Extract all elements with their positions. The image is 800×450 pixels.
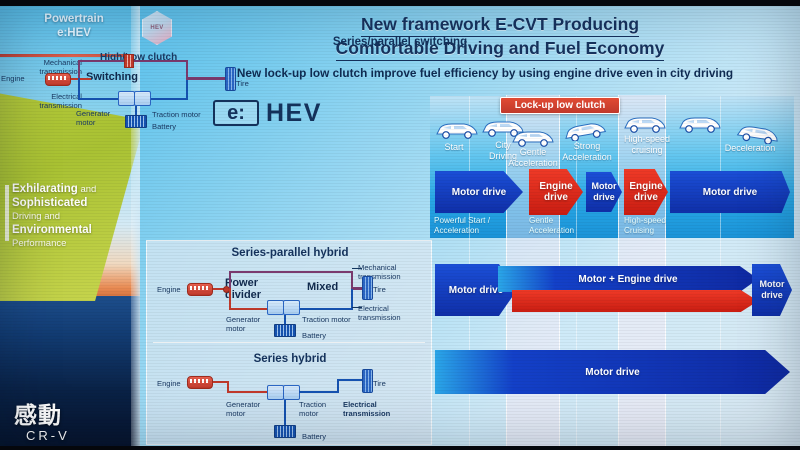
sidebar-logo: 感動 CR-V <box>14 403 134 443</box>
car-icon-strong <box>562 121 608 141</box>
diagram2-label-electrical: Electrical transmission <box>358 304 401 322</box>
sidebar-claim-l3: Driving and <box>12 210 132 224</box>
diagram1-label-engine: Engine <box>1 74 25 83</box>
sidebar-claim-bar <box>5 185 9 241</box>
diagram1-label-battery: Battery <box>152 122 176 131</box>
note-highspeed-cruising: High-speed Cruising <box>624 216 666 235</box>
diagram2-label-generator: Generator motor <box>226 315 260 333</box>
diagram2-label-battery: Battery <box>302 331 326 340</box>
diagram3-label-generator: Generator motor <box>226 400 260 418</box>
logo-kanji: 感動 <box>14 403 134 427</box>
diagram2-tire-icon <box>362 276 373 300</box>
sidebar-headline-line1: Powertrain <box>14 12 134 26</box>
diagram3-generator-icon <box>267 385 284 400</box>
chart-row-series-parallel: Motor drive Motor + Engine drive Motor d… <box>430 254 794 332</box>
car-icon-gentle <box>510 128 556 148</box>
diagram2-generator-icon <box>267 300 284 315</box>
diagram1-wire-toire <box>186 77 228 80</box>
note-powerful-start: Powerful Start / Acceleration <box>434 216 490 235</box>
diagram2-wire-low <box>229 308 267 310</box>
diagram2-wire-down <box>229 288 231 310</box>
diagram2-label-mixed: Mixed <box>307 283 338 292</box>
car-label-highspeed: High-speed cruising <box>616 134 678 155</box>
ehev-wordmark: e: HEV <box>213 98 363 128</box>
diagram1-wire-low <box>78 98 118 100</box>
diagram2-battery-icon <box>274 324 296 337</box>
diagram1-battery-icon <box>125 115 147 128</box>
car-label-strong: Strong Acceleration <box>556 141 618 162</box>
diagram3-label-traction: Traction motor <box>299 400 326 418</box>
segment-row2-motor-drive-end: Motor drive <box>752 264 792 316</box>
lockup-low-clutch-callout: Lock-up low clutch <box>500 97 620 114</box>
diagram1-tire-icon <box>225 67 236 91</box>
diagram1-wire-rightdown <box>186 78 188 100</box>
ehev-e-box: e: <box>213 100 259 126</box>
diagram1-label-center: Switching <box>86 73 138 82</box>
ehev-e-label: e: <box>227 103 245 123</box>
ehev-hev-label: HEV <box>266 101 322 126</box>
logo-model: CR-V <box>26 428 134 443</box>
diagram3-label-tire: Tire <box>373 379 386 388</box>
diagram1-traction-icon <box>134 91 151 106</box>
page-subtitle: New lock-up low clutch improve fuel effi… <box>180 66 790 80</box>
diagram3-title: Series hybrid <box>147 353 433 365</box>
diagram3-label-engine: Engine <box>157 379 181 388</box>
diagram3-wire-out <box>299 391 339 393</box>
diagram1-label-electrical: Electrical transmission <box>22 92 82 110</box>
car-icon-extra <box>677 114 723 134</box>
sidebar-claim-l2: Sophisticated <box>12 197 132 211</box>
diagram1-wire-eng <box>71 78 91 80</box>
segment-motor-drive-3: Motor drive <box>670 171 790 213</box>
diagram1-engine-icon <box>45 73 71 86</box>
car-icon-deceleration <box>735 124 781 144</box>
diagram-panel-group: Series-parallel hybrid Engine Power divi… <box>146 240 432 445</box>
diagram1-wire-up <box>78 60 80 80</box>
diagram2-wire-top <box>229 271 353 273</box>
diagram1-label-generator: Generator motor <box>76 109 110 127</box>
car-label-gentle: Gentle Acceleration <box>502 147 564 168</box>
sidebar-claim-block: Exhilarating and Sophisticated Driving a… <box>12 183 132 251</box>
segment-row3-motor-drive: Motor drive <box>435 350 790 394</box>
slide-canvas: Powertrain e:HEV Exhilarating and Sophis… <box>0 0 800 450</box>
car-label-deceleration: Deceleration <box>710 143 790 154</box>
diagram1-title: Series/parallel switching <box>0 36 800 48</box>
segment-row2-motor-engine-red <box>512 290 758 312</box>
diagram1-label-traction: Traction motor <box>152 110 201 119</box>
top-letterbox-bar <box>0 0 800 6</box>
diagram2-title: Series-parallel hybrid <box>147 247 433 259</box>
diagram3-label-electrical: Electrical transmission <box>343 400 390 418</box>
car-label-start: Start <box>430 142 478 153</box>
diagram2-wire-up <box>229 271 231 289</box>
diagram-series-parallel-hybrid: Series-parallel hybrid Engine Power divi… <box>147 241 433 342</box>
diagram1-wire-low2 <box>150 98 188 100</box>
diagram1-clutch-icon <box>124 54 134 68</box>
bottom-letterbox-bar <box>0 446 800 450</box>
diagram2-label-traction: Traction motor <box>302 315 351 324</box>
diagram1-wire-down <box>78 78 80 100</box>
diagram2-engine-icon <box>187 283 213 296</box>
diagram2-wire-low2 <box>299 308 353 310</box>
diagram3-label-battery: Battery <box>302 432 326 441</box>
diagram2-wire-rightdown <box>351 289 353 309</box>
segment-row2-motor-engine-blue: Motor + Engine drive <box>498 266 758 292</box>
diagram3-traction-icon <box>283 385 300 400</box>
diagram3-wire-bat <box>284 400 286 426</box>
diagram2-wire-topright <box>351 271 353 288</box>
diagram3-wire-up <box>337 379 339 393</box>
car-icon-highspeed <box>622 114 668 134</box>
diagram2-label-tire: Tire <box>373 285 386 294</box>
diagram2-leader-1 <box>352 268 362 269</box>
drive-mode-chart: Start City Driving Gentle Acceleration S… <box>430 96 794 448</box>
chart-row-series-hybrid: Motor drive <box>430 344 794 408</box>
note-gentle-acceleration: Gentle Acceleration <box>529 216 574 235</box>
sidebar-claim-l1: Exhilarating and <box>12 183 132 197</box>
diagram3-wire-tire <box>337 379 363 381</box>
diagram2-traction-icon <box>283 300 300 315</box>
sidebar-claim-l4: Environmental <box>12 224 132 238</box>
page-title-line1: New framework E-CVT Producing <box>250 13 750 37</box>
diagram3-wire-to-gen <box>227 391 269 393</box>
diagram1-label-tire: Tire <box>236 79 249 88</box>
diagram3-engine-icon <box>187 376 213 389</box>
diagram1-generator-icon <box>118 91 135 106</box>
diagram-series-hybrid: Series hybrid Engine Generator motor Tra… <box>147 343 433 446</box>
car-icon-start <box>434 120 480 140</box>
diagram2-leader-2 <box>352 307 362 308</box>
diagram3-tire-icon <box>362 369 373 393</box>
sidebar-claim-l5: Performance <box>12 237 132 251</box>
diagram3-battery-icon <box>274 425 296 438</box>
diagram2-label-engine: Engine <box>157 285 181 294</box>
